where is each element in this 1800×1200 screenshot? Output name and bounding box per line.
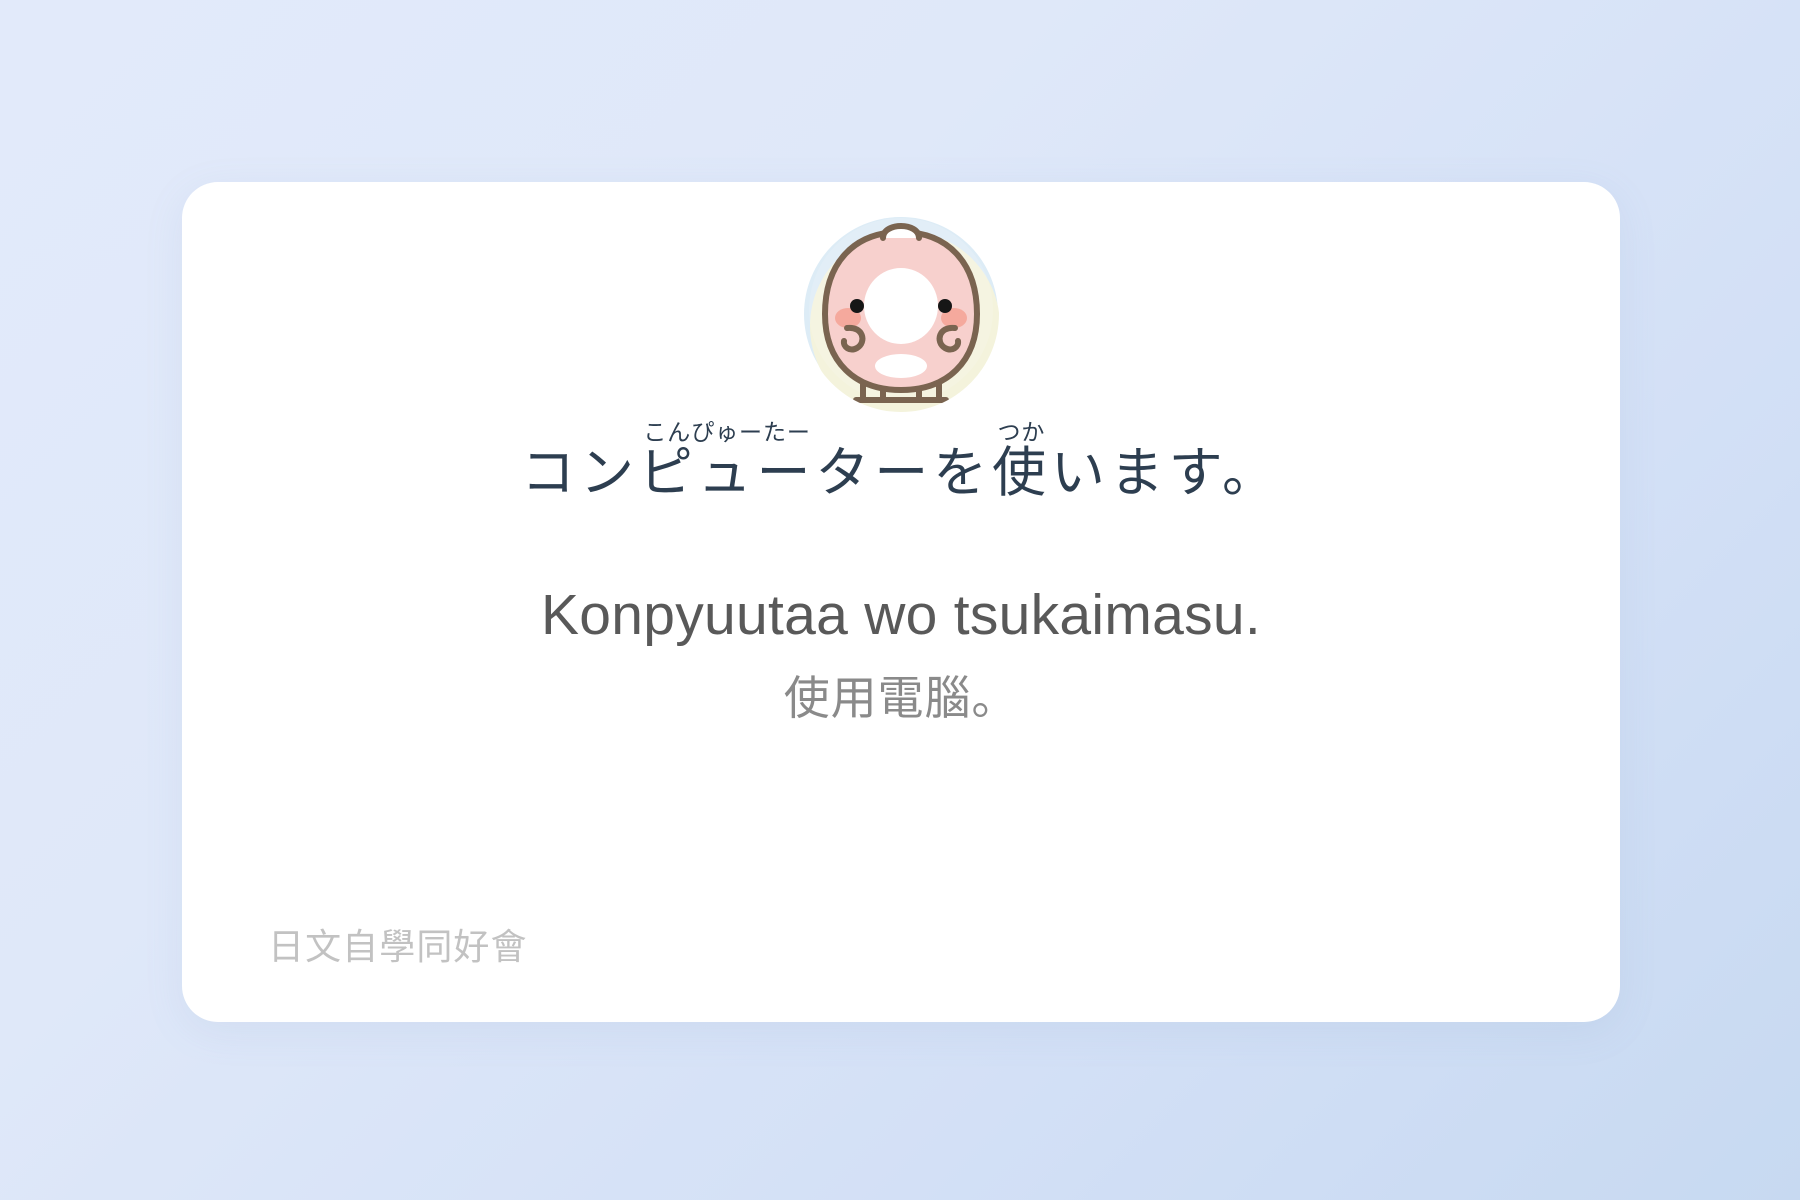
particle-wo: を — [933, 441, 992, 504]
ruby-base-tsukau: 使 — [992, 441, 1051, 504]
ruby-base-konpyuutaa: コンピューター — [521, 441, 933, 504]
furigana-tsukau: つか — [992, 420, 1051, 446]
page-root: コンピューターこんぴゅーたーを使つかいます。 Konpyuutaa wo tsu… — [0, 0, 1800, 1200]
mascot-illustration — [801, 214, 1001, 414]
ruby-konpyuutaa: コンピューターこんぴゅーたー — [521, 441, 933, 504]
japanese-sentence: コンピューターこんぴゅーたーを使つかいます。 — [182, 420, 1620, 512]
sentence-ending: います。 — [1051, 441, 1281, 504]
translation-line: 使用電腦。 — [182, 662, 1620, 728]
romaji-line: Konpyuutaa wo tsukaimasu. — [182, 582, 1620, 648]
flashcard: コンピューターこんぴゅーたーを使つかいます。 Konpyuutaa wo tsu… — [182, 182, 1620, 1022]
japanese-sentence-text: コンピューターこんぴゅーたーを使つかいます。 — [521, 441, 1281, 504]
furigana-konpyuutaa: こんぴゅーたー — [521, 420, 933, 446]
mascot-dumpling-icon — [801, 214, 1001, 414]
ruby-tsukau: 使つか — [992, 441, 1051, 504]
footer-credit: 日文自學同好會 — [268, 918, 528, 970]
